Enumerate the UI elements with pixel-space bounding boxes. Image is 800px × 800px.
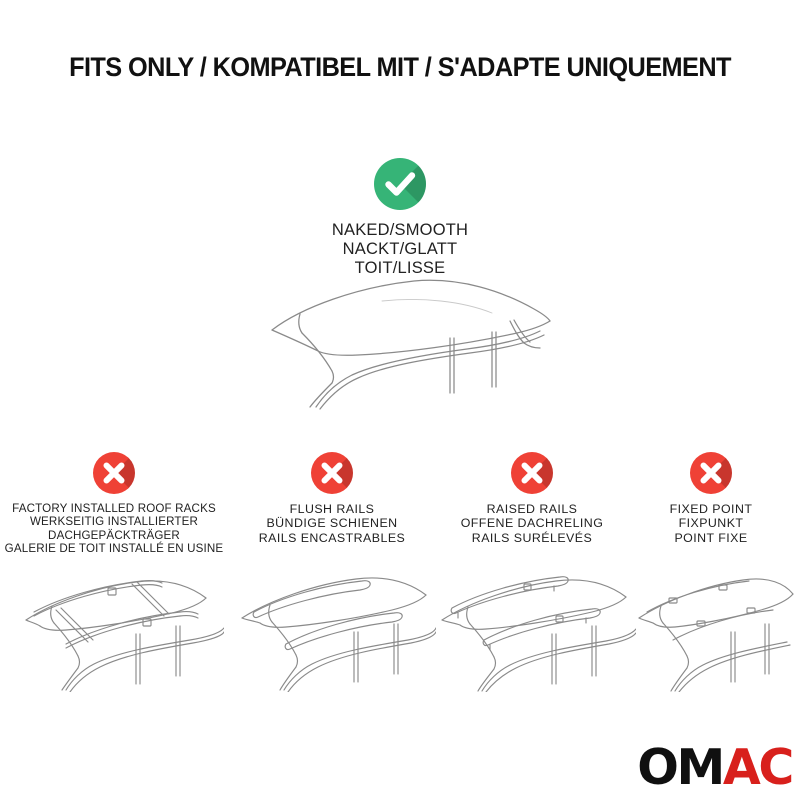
approved-labels: NAKED/SMOOTH NACKT/GLATT TOIT/LISSE: [0, 221, 800, 278]
rejected-labels: FLUSH RAILS BÜNDIGE SCHIENEN RAILS ENCAS…: [228, 502, 436, 545]
check-mark-glyph: [374, 158, 426, 210]
rejected-label-fr: RAILS ENCASTRABLES: [228, 531, 436, 545]
rejected-label-fr: GALERIE DE TOIT INSTALLÉ EN USINE: [4, 542, 224, 555]
approved-label-en: NAKED/SMOOTH: [0, 221, 800, 240]
page-title: FITS ONLY / KOMPATIBEL MIT / S'ADAPTE UN…: [18, 52, 782, 83]
rejected-type-flush-rails: FLUSH RAILS BÜNDIGE SCHIENEN RAILS ENCAS…: [228, 452, 436, 545]
rejected-label-de: FIXPUNKT: [627, 516, 795, 530]
x-circle-icon: [511, 452, 553, 494]
rejected-label-de-line2: DACHGEPÄCKTRÄGER: [4, 529, 224, 542]
check-circle-icon: [374, 158, 426, 210]
rejected-label-fr: POINT FIXE: [627, 531, 795, 545]
x-mark-glyph: [511, 452, 553, 494]
x-circle-icon: [93, 452, 135, 494]
rejected-type-raised-rails: RAISED RAILS OFFENE DACHRELING RAILS SUR…: [428, 452, 636, 545]
rejected-label-de-line1: WERKSEITIG INSTALLIERTER: [4, 515, 224, 528]
rejected-label-de: OFFENE DACHRELING: [428, 516, 636, 530]
rejected-label-fr: RAILS SURÉLEVÉS: [428, 531, 636, 545]
omac-brand-logo: OMAC: [637, 743, 792, 792]
approved-label-de: NACKT/GLATT: [0, 240, 800, 259]
rejected-type-fixed-point: FIXED POINT FIXPUNKT POINT FIXE: [627, 452, 795, 545]
car-roof-fixed-point-illustration: [627, 560, 795, 692]
rejected-labels: FIXED POINT FIXPUNKT POINT FIXE: [627, 502, 795, 545]
x-mark-glyph: [311, 452, 353, 494]
logo-text-dark: OM: [637, 739, 723, 796]
rejected-label-en: RAISED RAILS: [428, 502, 636, 516]
rejected-label-en: FACTORY INSTALLED ROOF RACKS: [4, 502, 224, 515]
car-roof-naked-smooth-illustration: [262, 275, 562, 410]
x-mark-glyph: [690, 452, 732, 494]
rejected-label-en: FIXED POINT: [627, 502, 795, 516]
rejected-label-en: FLUSH RAILS: [228, 502, 436, 516]
rejected-type-factory-racks: FACTORY INSTALLED ROOF RACKS WERKSEITIG …: [4, 452, 224, 556]
rejected-labels: RAISED RAILS OFFENE DACHRELING RAILS SUR…: [428, 502, 636, 545]
logo-text-red: AC: [723, 739, 792, 796]
car-roof-flush-rails-illustration: [228, 560, 436, 692]
rejected-roof-types-row: FACTORY INSTALLED ROOF RACKS WERKSEITIG …: [0, 452, 800, 692]
car-roof-factory-racks-illustration: [4, 560, 224, 692]
rejected-labels: FACTORY INSTALLED ROOF RACKS WERKSEITIG …: [4, 502, 224, 556]
car-roof-raised-rails-illustration: [428, 560, 636, 692]
approved-roof-type-block: NAKED/SMOOTH NACKT/GLATT TOIT/LISSE: [0, 158, 800, 278]
x-circle-icon: [690, 452, 732, 494]
x-mark-glyph: [93, 452, 135, 494]
rejected-label-de: BÜNDIGE SCHIENEN: [228, 516, 436, 530]
x-circle-icon: [311, 452, 353, 494]
